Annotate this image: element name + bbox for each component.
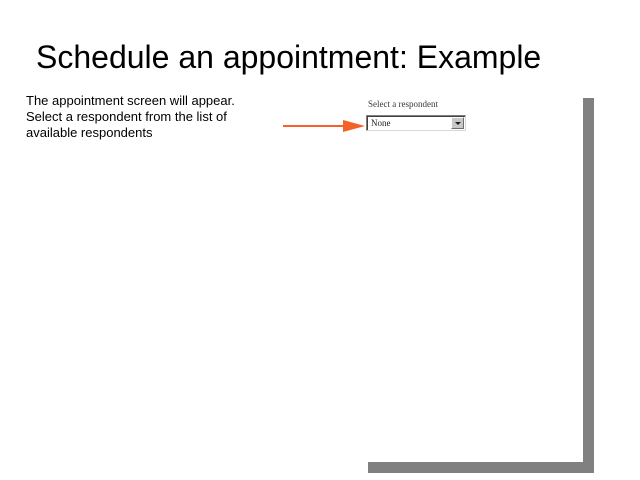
chevron-down-glyph [455, 122, 461, 125]
respondent-field-label: Select a respondent [368, 99, 466, 110]
frame-shadow-bottom [368, 462, 594, 473]
callout-right-arrow-icon [283, 118, 365, 134]
respondent-select-value: None [371, 118, 391, 129]
respondent-widget-group: Select a respondent None [366, 99, 466, 131]
slide-canvas: Schedule an appointment: Example The app… [0, 0, 640, 480]
page-title: Schedule an appointment: Example [36, 38, 606, 76]
respondent-select[interactable]: None [366, 115, 466, 131]
frame-shadow-right [583, 98, 594, 473]
body-paragraph: The appointment screen will appear. Sele… [26, 93, 256, 141]
chevron-down-icon[interactable] [451, 117, 464, 129]
